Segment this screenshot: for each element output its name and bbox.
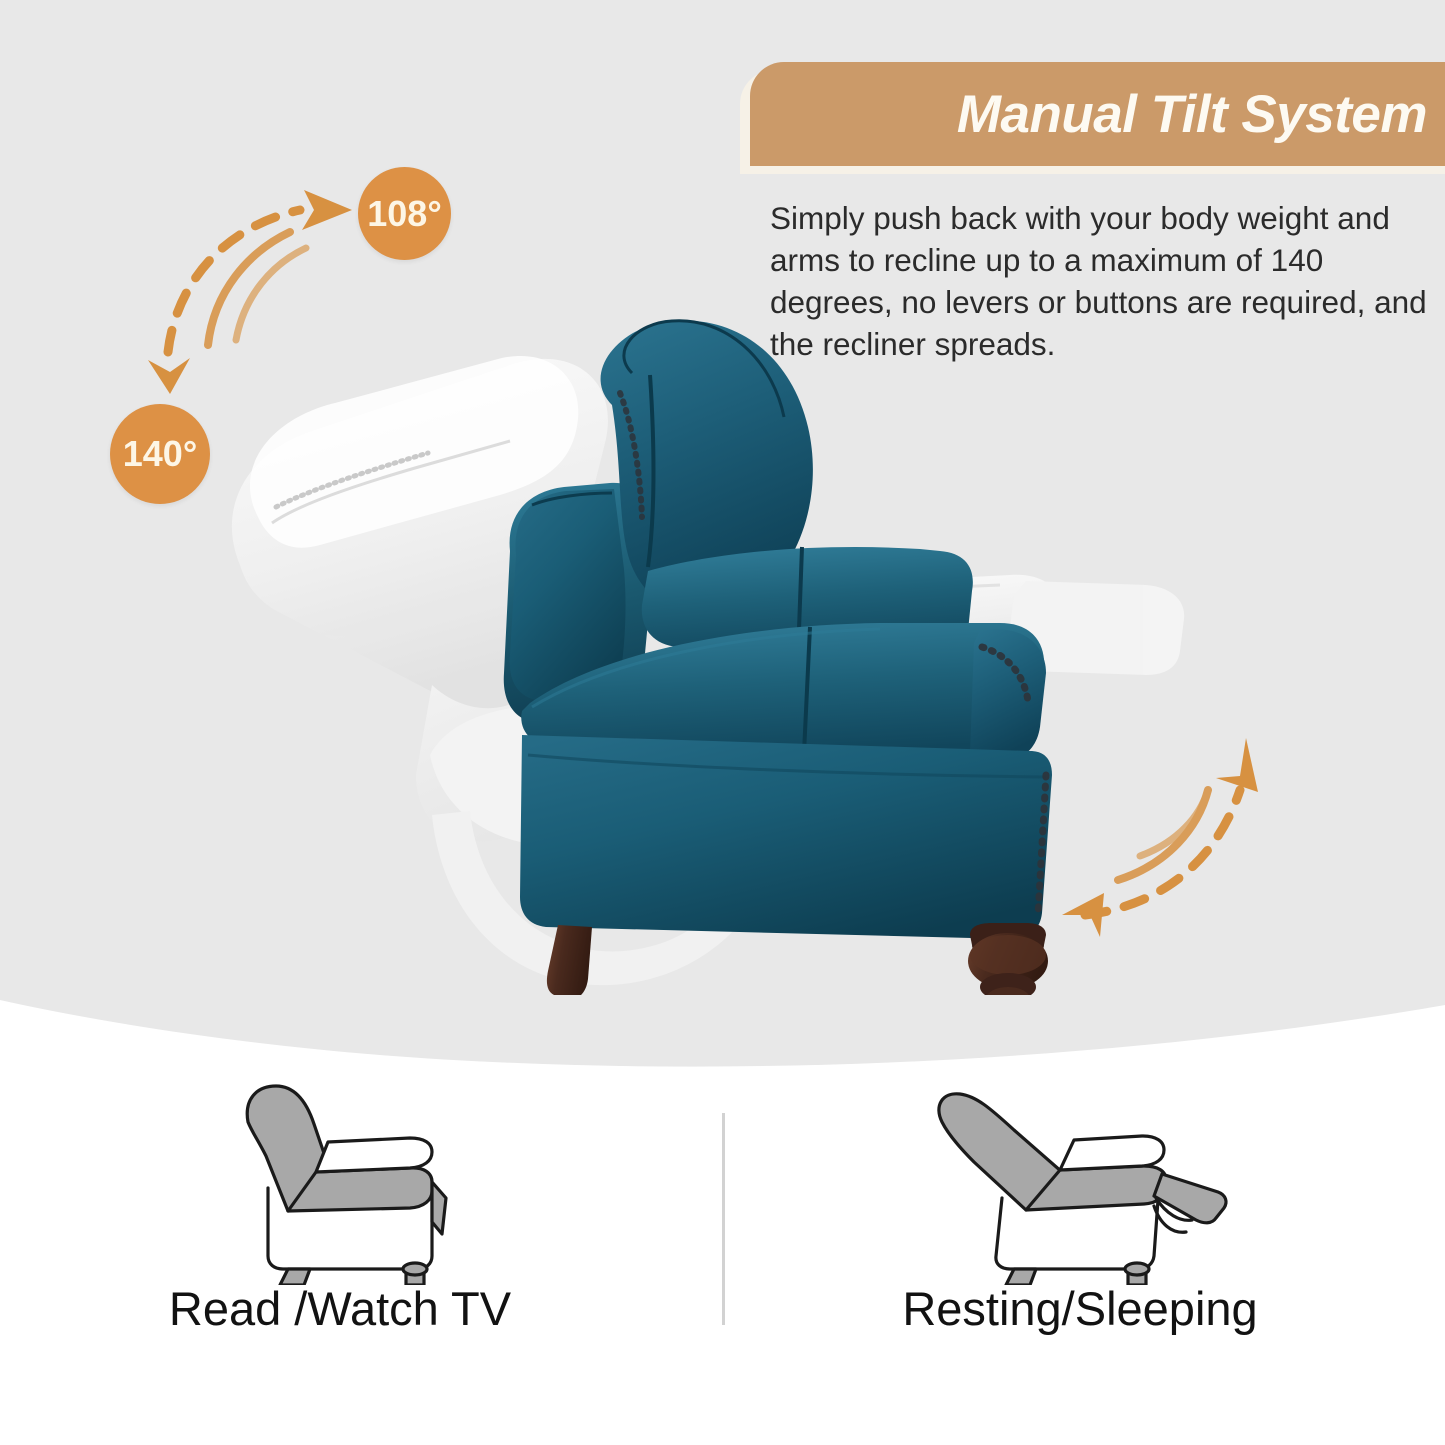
angle-badge-140-value: 140° xyxy=(123,433,197,475)
use-case-read-watch-tv: Read /Watch TV xyxy=(20,1060,660,1445)
angle-badge-108: 108° xyxy=(358,167,451,260)
front-bun-leg xyxy=(968,923,1048,995)
header-banner: Manual Tilt System xyxy=(740,62,1445,174)
description-text: Simply push back with your body weight a… xyxy=(770,197,1430,365)
page-title: Manual Tilt System xyxy=(957,88,1427,141)
angle-badge-140: 140° xyxy=(110,404,210,504)
use-case-label-read-watch-tv: Read /Watch TV xyxy=(20,1285,660,1332)
use-case-divider xyxy=(722,1113,725,1325)
use-case-label-resting-sleeping: Resting/Sleeping xyxy=(760,1285,1400,1332)
recliner-reclined-icon xyxy=(760,1070,1400,1285)
banner-fill: Manual Tilt System xyxy=(750,62,1445,166)
use-case-resting-sleeping: Resting/Sleeping xyxy=(760,1060,1400,1445)
infographic-page: Manual Tilt System Simply push back with… xyxy=(0,0,1445,1445)
recliner-upright-icon xyxy=(20,1070,660,1285)
angle-badge-108-value: 108° xyxy=(367,193,441,235)
recliner-product-image xyxy=(180,255,1240,995)
rear-leg xyxy=(547,925,592,995)
